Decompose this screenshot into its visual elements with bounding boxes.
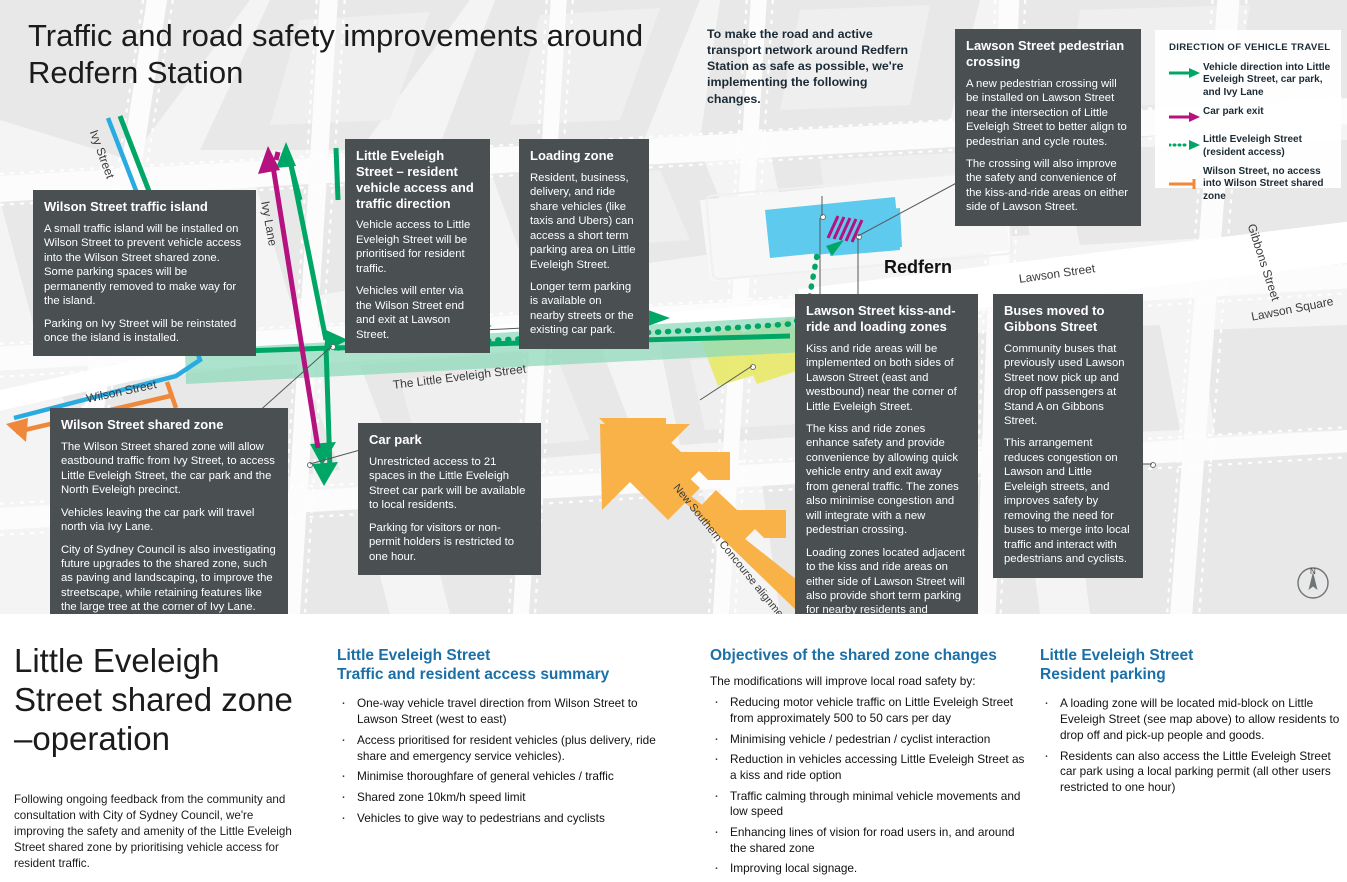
callout-paragraph: City of Sydney Council is also investiga… [61, 543, 277, 614]
callout-car-park: Car park Unrestricted access to 21 space… [358, 423, 541, 575]
callout-paragraph: Unrestricted access to 21 spaces in the … [369, 455, 530, 513]
callout-loading-zone: Loading zone Resident, business, deliver… [519, 139, 649, 349]
legend-title: DIRECTION OF VEHICLE TRAVEL [1169, 42, 1331, 53]
callout-paragraph: A new pedestrian crossing will be instal… [966, 77, 1130, 149]
legend-item-vehicle-direction: Vehicle direction into Little Eveleigh S… [1169, 62, 1331, 99]
column-heading-line2: Traffic and resident access summary [337, 666, 609, 683]
list-item: Traffic calming through minimal vehicle … [710, 789, 1030, 820]
callout-paragraph: A small traffic island will be installed… [44, 222, 245, 309]
legend-item-wilson-no-access: Wilson Street, no access into Wilson Str… [1169, 166, 1331, 203]
column-heading: Objectives of the shared zone changes [710, 646, 1030, 665]
list-item: Residents can also access the Little Eve… [1040, 749, 1346, 796]
legend-item-car-park-exit: Car park exit [1169, 106, 1331, 127]
bottom-title: Little Eveleigh Street shared zone –oper… [14, 642, 314, 759]
column-list: A loading zone will be located mid-block… [1040, 696, 1346, 795]
callout-heading: Buses moved to Gibbons Street [1004, 303, 1132, 335]
station-label-redfern: Redfern [884, 257, 952, 278]
svg-text:N: N [1310, 567, 1316, 576]
callout-heading: Wilson Street traffic island [44, 199, 245, 215]
callout-paragraph: The Wilson Street shared zone will allow… [61, 440, 277, 498]
list-item: Minimising vehicle / pedestrian / cyclis… [710, 732, 1030, 748]
list-item: Reduction in vehicles accessing Little E… [710, 752, 1030, 783]
list-item: Shared zone 10km/h speed limit [337, 790, 677, 806]
list-item: A loading zone will be located mid-block… [1040, 696, 1346, 743]
column-objectives: Objectives of the shared zone changes Th… [710, 646, 1030, 882]
callout-paragraph: Kiss and ride areas will be implemented … [806, 342, 967, 414]
map-legend: DIRECTION OF VEHICLE TRAVEL Vehicle dire… [1155, 30, 1341, 188]
leader-dot [1150, 462, 1156, 468]
green-dotted-arrow-icon [1169, 134, 1203, 155]
column-heading-line1: Little Eveleigh Street [1040, 647, 1193, 664]
bottom-intro: Following ongoing feedback from the comm… [14, 792, 304, 872]
callout-paragraph: Resident, business, delivery, and ride s… [530, 171, 638, 272]
callout-heading: Loading zone [530, 148, 638, 164]
callout-little-eveleigh-street-access: Little Eveleigh Street – resident vehicl… [345, 139, 490, 353]
callout-buses-moved-to-gibbons-street: Buses moved to Gibbons Street Community … [993, 294, 1143, 578]
callout-wilson-street-traffic-island: Wilson Street traffic island A small tra… [33, 190, 256, 356]
column-traffic-and-resident-access: Little Eveleigh Street Traffic and resid… [337, 646, 677, 831]
column-lead: The modifications will improve local roa… [710, 674, 1030, 690]
legend-item-label: Car park exit [1203, 106, 1264, 118]
legend-item-label: Vehicle direction into Little Eveleigh S… [1203, 62, 1331, 99]
list-item: Minimise thoroughfare of general vehicle… [337, 769, 677, 785]
callout-paragraph: The kiss and ride zones enhance safety a… [806, 422, 967, 538]
column-heading: Little Eveleigh Street Resident parking [1040, 646, 1346, 684]
list-item: Improving local signage. [710, 861, 1030, 877]
column-list: One-way vehicle travel direction from Wi… [337, 696, 677, 826]
bottom-panel: Little Eveleigh Street shared zone –oper… [0, 614, 1347, 873]
legend-item-label: Little Eveleigh Street (resident access) [1203, 134, 1331, 159]
green-arrow-icon [1169, 62, 1203, 83]
callout-heading: Wilson Street shared zone [61, 417, 277, 433]
callout-heading: Lawson Street kiss-and-ride and loading … [806, 303, 967, 335]
list-item: Enhancing lines of vision for road users… [710, 825, 1030, 856]
column-heading-line1: Little Eveleigh Street [337, 647, 490, 664]
map-panel: N Ivy Street Ivy Lane Wilson Street The … [0, 0, 1347, 614]
callout-paragraph: Vehicle access to Little Eveleigh Street… [356, 218, 479, 276]
callout-wilson-street-shared-zone: Wilson Street shared zone The Wilson Str… [50, 408, 288, 614]
list-item: Vehicles to give way to pedestrians and … [337, 811, 677, 827]
callout-heading: Lawson Street pedestrian crossing [966, 38, 1130, 70]
callout-paragraph: This arrangement reduces congestion on L… [1004, 436, 1132, 566]
legend-item-label: Wilson Street, no access into Wilson Str… [1203, 166, 1331, 203]
leader-dot [820, 214, 826, 220]
callout-paragraph: Parking on Ivy Street will be reinstated… [44, 317, 245, 346]
leader-dot [330, 344, 336, 350]
callout-lawson-street-kiss-and-ride: Lawson Street kiss-and-ride and loading … [795, 294, 978, 614]
orange-barred-line-icon [1169, 174, 1203, 195]
callout-paragraph: Community buses that previously used Law… [1004, 342, 1132, 429]
leader-dot [750, 364, 756, 370]
column-list: Reducing motor vehicle traffic on Little… [710, 695, 1030, 877]
column-heading: Little Eveleigh Street Traffic and resid… [337, 646, 677, 684]
callout-lawson-street-pedestrian-crossing: Lawson Street pedestrian crossing A new … [955, 29, 1141, 226]
callout-heading: Little Eveleigh Street – resident vehicl… [356, 148, 479, 211]
callout-paragraph: Parking for visitors or non-permit holde… [369, 521, 530, 564]
callout-heading: Car park [369, 432, 530, 448]
callout-paragraph: The crossing will also improve the safet… [966, 157, 1130, 215]
list-item: One-way vehicle travel direction from Wi… [337, 696, 677, 727]
list-item: Reducing motor vehicle traffic on Little… [710, 695, 1030, 726]
page-title: Traffic and road safety improvements aro… [28, 18, 668, 91]
magenta-arrow-icon [1169, 106, 1203, 127]
list-item: Access prioritised for resident vehicles… [337, 733, 677, 764]
map-intro-text: To make the road and active transport ne… [707, 26, 919, 107]
column-heading-line2: Resident parking [1040, 666, 1166, 683]
leader-dot [307, 462, 313, 468]
legend-item-resident-access: Little Eveleigh Street (resident access) [1169, 134, 1331, 159]
column-resident-parking: Little Eveleigh Street Resident parking … [1040, 646, 1346, 801]
callout-paragraph: Loading zones located adjacent to the ki… [806, 546, 967, 614]
callout-paragraph: Longer term parking is available on near… [530, 280, 638, 338]
callout-paragraph: Vehicles will enter via the Wilson Stree… [356, 284, 479, 342]
leader-dot [856, 234, 862, 240]
callout-paragraph: Vehicles leaving the car park will trave… [61, 506, 277, 535]
